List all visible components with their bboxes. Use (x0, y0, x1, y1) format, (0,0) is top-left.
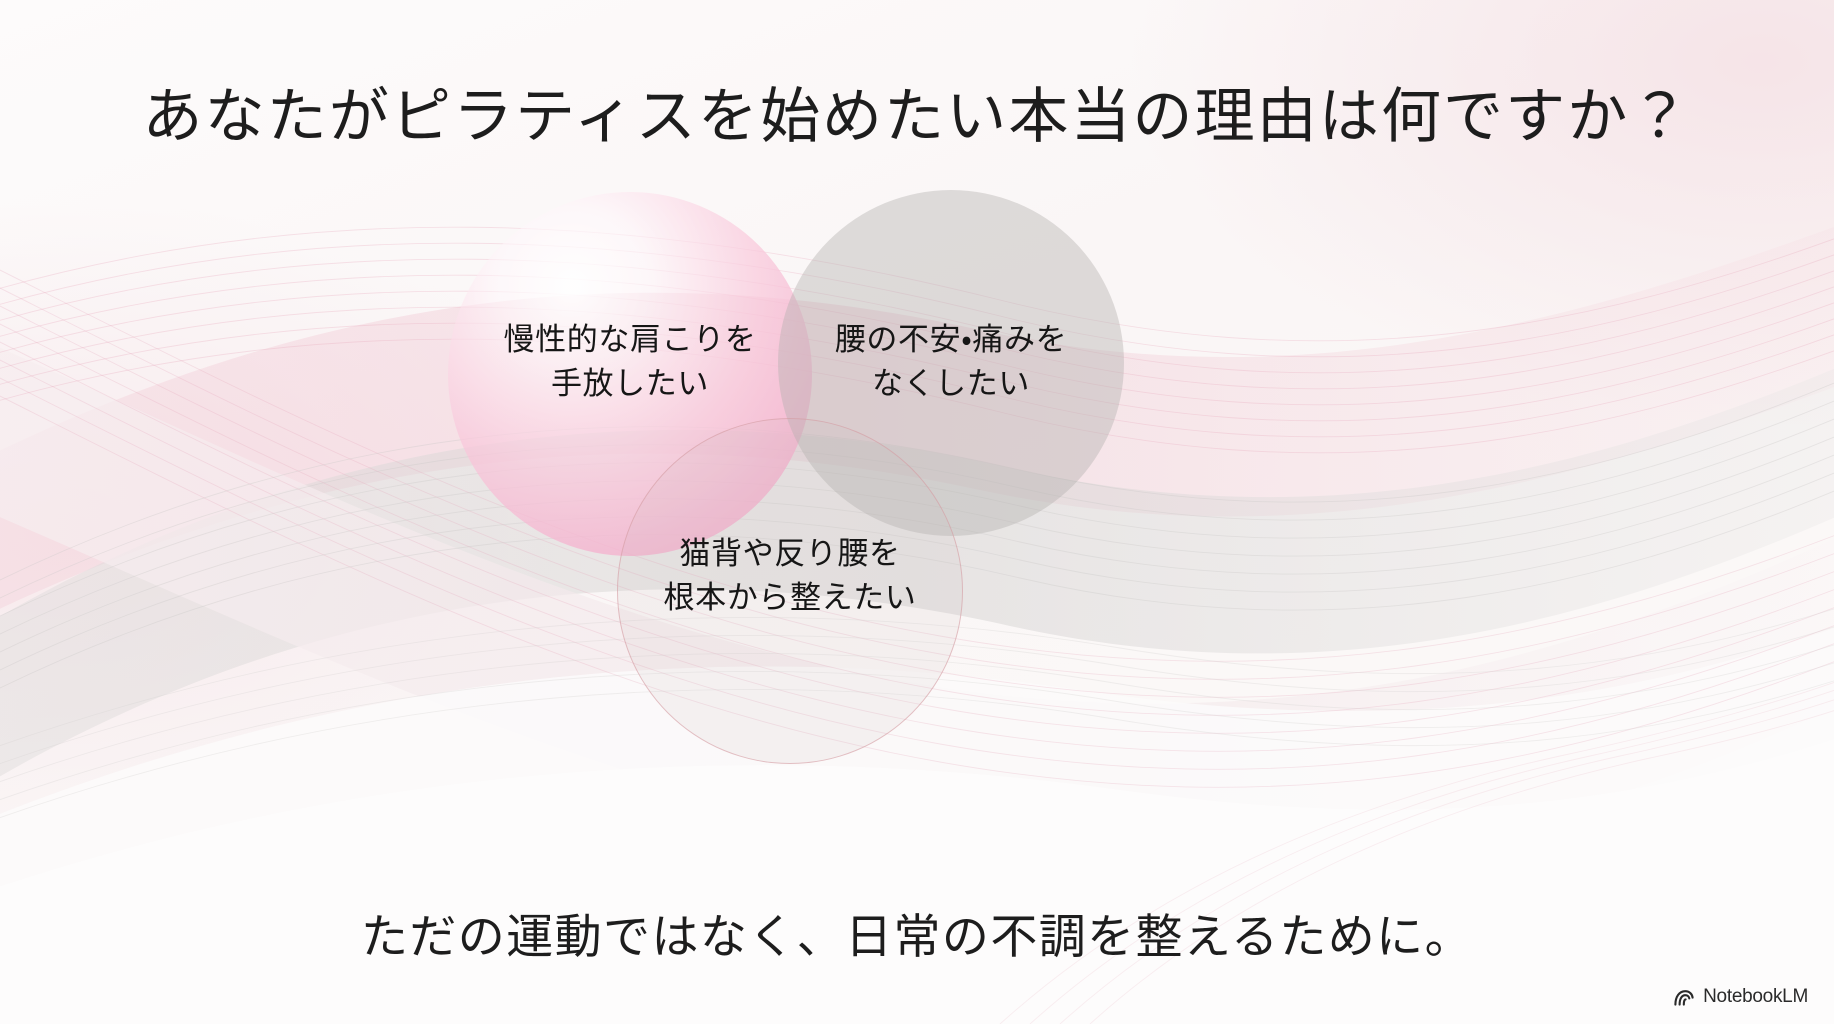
venn-label-line1: 腰の不安・痛みを (778, 318, 1124, 362)
slide-canvas: あなたがピラティスを始めたい本当の理由は何ですか？ 慢性的な肩こりを 手放したい… (0, 0, 1834, 1024)
slide-caption: ただの運動ではなく、日常の不調を整えるために。 (0, 898, 1834, 967)
venn-label-line1: 猫背や反り腰を (617, 532, 963, 576)
notebooklm-badge: NotebookLM (1673, 986, 1808, 1008)
notebooklm-label: NotebookLM (1703, 986, 1808, 1008)
venn-label-chronic-shoulder: 慢性的な肩こりを 手放したい (448, 318, 812, 406)
venn-label-line2: 根本から整えたい (617, 576, 963, 620)
notebooklm-spiral-icon (1673, 988, 1695, 1006)
venn-label-line2: 手放したい (448, 362, 812, 406)
venn-label-lower-back: 腰の不安・痛みを なくしたい (778, 318, 1124, 406)
venn-label-line2: なくしたい (778, 362, 1124, 406)
venn-label-posture: 猫背や反り腰を 根本から整えたい (617, 532, 963, 620)
venn-label-line1: 慢性的な肩こりを (448, 318, 812, 362)
venn-diagram: 慢性的な肩こりを 手放したい 腰の不安・痛みを なくしたい 猫背や反り腰を 根本… (0, 0, 1834, 1024)
